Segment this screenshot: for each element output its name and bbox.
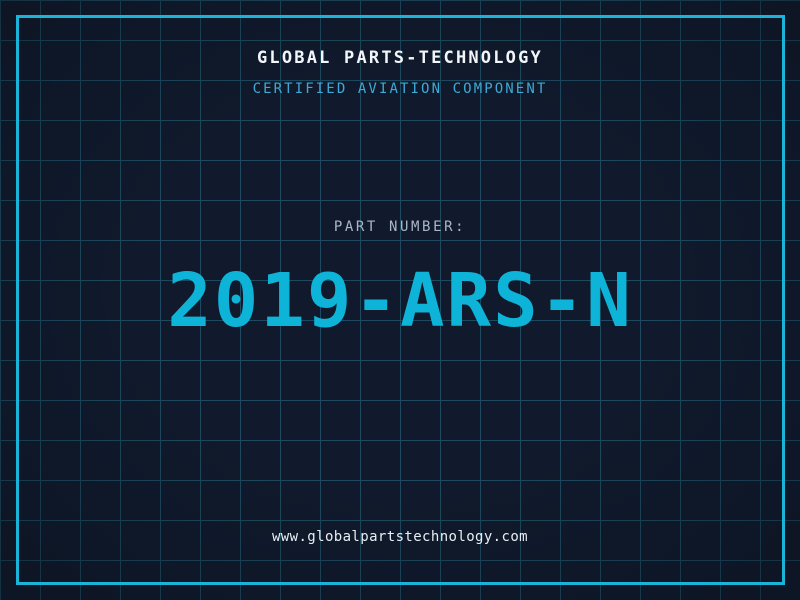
blueprint-part-card: GLOBAL PARTS-TECHNOLOGY CERTIFIED AVIATI…	[0, 0, 800, 600]
certification-subtitle: CERTIFIED AVIATION COMPONENT	[0, 81, 800, 97]
part-number-label: PART NUMBER:	[0, 219, 800, 236]
website-footer: www.globalpartstechnology.com	[0, 529, 800, 546]
card-content: GLOBAL PARTS-TECHNOLOGY CERTIFIED AVIATI…	[0, 0, 800, 600]
part-number-value: 2019-ARS-N	[0, 264, 800, 338]
company-title: GLOBAL PARTS-TECHNOLOGY	[0, 47, 800, 69]
